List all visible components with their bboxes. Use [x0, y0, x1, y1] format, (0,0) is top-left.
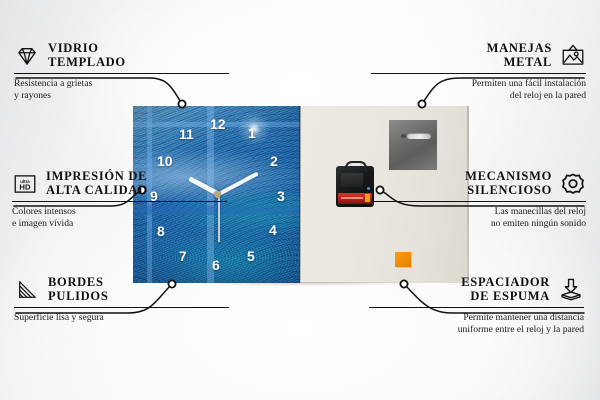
mechanism-indicator-dot	[367, 187, 370, 190]
feature-description-line-1: Superficie lisa y segura	[14, 312, 229, 323]
feature-description-line-1: Las manecillas del reloj	[371, 206, 586, 217]
feature-description-line-2: del reloj en la pared	[371, 90, 586, 101]
polished-edge-icon	[14, 277, 40, 303]
mechanism-housing-detail	[341, 173, 363, 187]
feature-title-line-2: METAL	[487, 56, 552, 70]
feature-description: Resistencia a grietas y rayones	[14, 78, 229, 101]
feature-divider	[12, 201, 227, 202]
feature-divider	[14, 307, 229, 308]
framed-picture-icon	[560, 43, 586, 69]
metal-hanger-plate	[389, 120, 437, 170]
feature-description-line-2: no emiten ningún sonido	[371, 218, 586, 229]
product-center-seam	[299, 106, 301, 283]
feature-description-line-2: y rayones	[14, 90, 229, 101]
feature-description: Permiten una fácil instalación del reloj…	[371, 78, 586, 101]
feature-title: IMPRESIÓN DE ALTA CALIDAD	[46, 170, 148, 197]
feature-title-line-1: MECANISMO	[465, 170, 552, 184]
feature-title-line-2: ALTA CALIDAD	[46, 184, 148, 198]
aa-battery	[338, 193, 372, 204]
feature-divider	[369, 307, 584, 308]
feature-header: VIDRIO TEMPLADO	[14, 42, 229, 69]
feature-description-line-2: e imagen vívida	[12, 218, 227, 229]
infographic-canvas: 12 1 2 3 4 5 6 7 8 9 10 11	[0, 0, 600, 400]
foam-spacer-pad	[395, 252, 411, 267]
battery-positive-tip	[365, 194, 370, 202]
feature-title: MANEJAS METAL	[487, 42, 552, 69]
feature-divider	[371, 201, 586, 202]
feature-title-line-1: VIDRIO	[48, 42, 126, 56]
feature-divider	[371, 73, 586, 74]
feature-title-line-1: MANEJAS	[487, 42, 552, 56]
feature-description: Permite mantener una distancia uniforme …	[369, 312, 584, 335]
svg-text:HD: HD	[19, 182, 31, 191]
hanger-keyhole-slot	[407, 133, 431, 139]
feature-description: Las manecillas del reloj no emiten ningú…	[371, 206, 586, 229]
feature-description: Superficie lisa y segura	[14, 312, 229, 323]
feature-divider	[14, 73, 229, 74]
feature-impresion-alta-calidad: ultra HD IMPRESIÓN DE ALTA CALIDAD Color…	[12, 170, 227, 229]
diamond-icon	[14, 43, 40, 69]
ultra-hd-icon: ultra HD	[12, 171, 38, 197]
feature-header: BORDES PULIDOS	[14, 276, 229, 303]
feature-title-line-1: IMPRESIÓN DE	[46, 170, 148, 184]
feature-title-line-1: BORDES	[48, 276, 108, 290]
feature-title: MECANISMO SILENCIOSO	[465, 170, 552, 197]
feature-description-line-1: Resistencia a grietas	[14, 78, 229, 89]
feature-description-line-1: Colores intensos	[12, 206, 227, 217]
feature-description-line-1: Permite mantener una distancia	[369, 312, 584, 323]
feature-header: ESPACIADOR DE ESPUMA	[369, 276, 584, 303]
gear-icon	[560, 171, 586, 197]
feature-title-line-2: TEMPLADO	[48, 56, 126, 70]
feature-description-line-2: uniforme entre el reloj y la pared	[369, 324, 584, 335]
battery-label-stripe	[341, 197, 363, 199]
mechanism-hook	[345, 161, 367, 172]
feature-header: ultra HD IMPRESIÓN DE ALTA CALIDAD	[12, 170, 227, 197]
quartz-mechanism	[336, 166, 374, 207]
feature-espaciador-espuma: ESPACIADOR DE ESPUMA Permite mantener un…	[369, 276, 584, 335]
feature-title-line-2: DE ESPUMA	[461, 290, 550, 304]
feature-description-line-1: Permiten una fácil instalación	[371, 78, 586, 89]
feature-title: BORDES PULIDOS	[48, 276, 108, 303]
feature-description: Colores intensos e imagen vívida	[12, 206, 227, 229]
feature-title-line-1: ESPACIADOR	[461, 276, 550, 290]
feature-mecanismo-silencioso: MECANISMO SILENCIOSO Las manecillas del …	[371, 170, 586, 229]
feature-manejas-metal: MANEJAS METAL Permiten una fácil instala…	[371, 42, 586, 101]
feature-title-line-2: SILENCIOSO	[465, 184, 552, 198]
feature-header: MANEJAS METAL	[371, 42, 586, 69]
feature-vidrio-templado: VIDRIO TEMPLADO Resistencia a grietas y …	[14, 42, 229, 101]
feature-title: VIDRIO TEMPLADO	[48, 42, 126, 69]
arrow-down-layers-icon	[558, 277, 584, 303]
feature-header: MECANISMO SILENCIOSO	[371, 170, 586, 197]
feature-title: ESPACIADOR DE ESPUMA	[461, 276, 550, 303]
feature-title-line-2: PULIDOS	[48, 290, 108, 304]
feature-bordes-pulidos: BORDES PULIDOS Superficie lisa y segura	[14, 276, 229, 324]
